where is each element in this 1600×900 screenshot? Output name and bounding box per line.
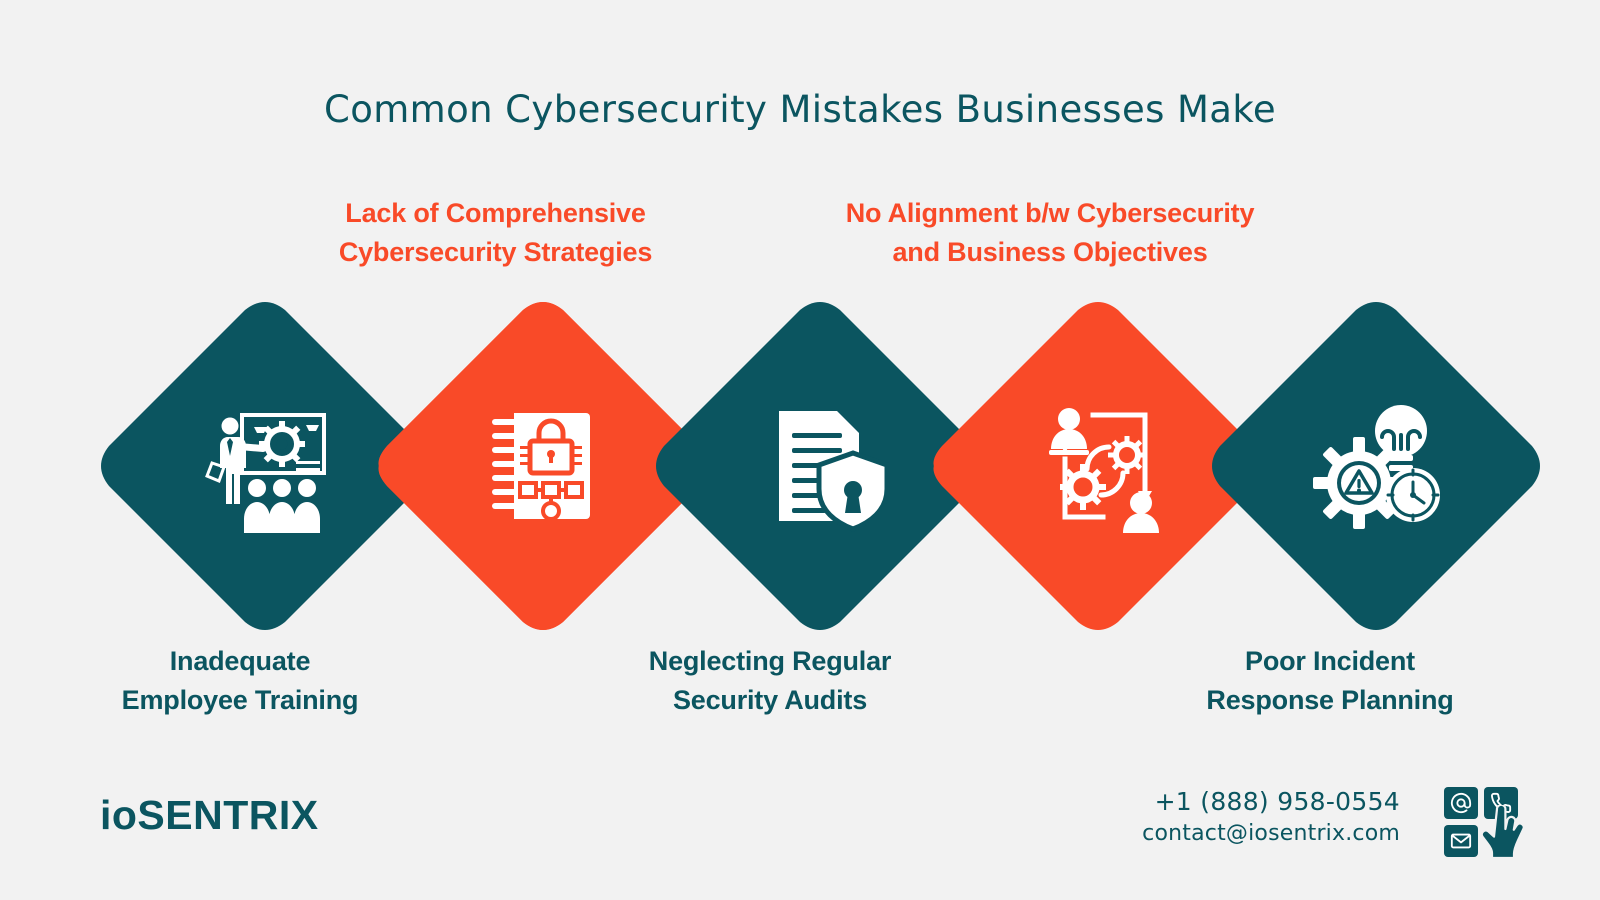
caption-line: Cybersecurity Strategies — [243, 233, 748, 272]
caption-line: Lack of Comprehensive — [243, 194, 748, 233]
caption-line: Inadequate — [40, 642, 440, 681]
brand-logo: ioSENTRIX — [100, 792, 319, 839]
contact-icon-grid — [1444, 787, 1522, 859]
caption-line: Employee Training — [40, 681, 440, 720]
contact-email[interactable]: contact@iosentrix.com — [1142, 819, 1400, 849]
caption-line: No Alignment b/w Cybersecurity — [760, 194, 1340, 233]
caption-line: Poor Incident — [1130, 642, 1530, 681]
infographic-canvas: Common Cybersecurity Mistakes Businesses… — [0, 0, 1600, 900]
caption-bottom-training: Inadequate Employee Training — [40, 642, 440, 720]
caption-line: Security Audits — [570, 681, 970, 720]
contact-block: +1 (888) 958-0554 contact@iosentrix.com — [1142, 786, 1400, 848]
at-sign-icon[interactable] — [1444, 787, 1478, 819]
gear-alert-bulb-clock-icon — [1206, 296, 1546, 636]
phone-icon[interactable] — [1484, 787, 1518, 819]
icon-grid-empty-cell — [1484, 825, 1520, 859]
contact-phone[interactable]: +1 (888) 958-0554 — [1142, 786, 1400, 819]
caption-line: Response Planning — [1130, 681, 1530, 720]
caption-top-alignment: No Alignment b/w Cybersecurity and Busin… — [760, 194, 1340, 272]
diamond-row — [0, 296, 1600, 636]
page-title: Common Cybersecurity Mistakes Businesses… — [0, 88, 1600, 131]
envelope-icon[interactable] — [1444, 825, 1478, 857]
caption-bottom-incident-response: Poor Incident Response Planning — [1130, 642, 1530, 720]
diamond-poor-incident-response-planning[interactable] — [1206, 296, 1546, 636]
caption-line: Neglecting Regular — [570, 642, 970, 681]
caption-line: and Business Objectives — [760, 233, 1340, 272]
caption-top-strategies: Lack of Comprehensive Cybersecurity Stra… — [243, 194, 748, 272]
caption-bottom-audits: Neglecting Regular Security Audits — [570, 642, 970, 720]
